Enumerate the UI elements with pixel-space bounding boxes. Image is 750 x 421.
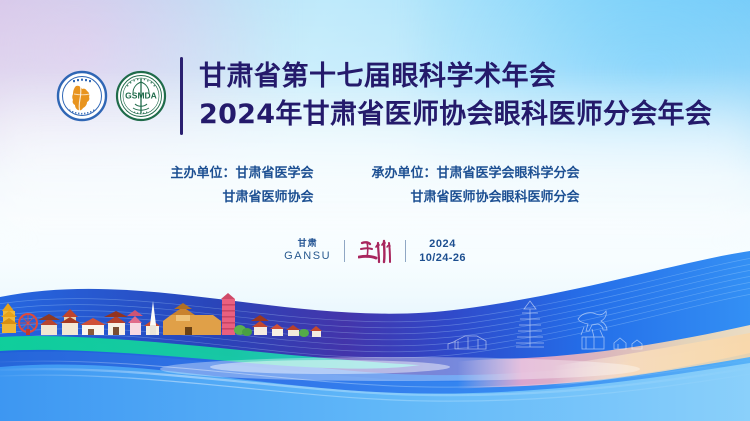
wave-artwork [0,241,750,421]
co-organizer-column: 承办单位：甘肃省医学会眼科学分会 甘肃省医师协会眼科医师分会 [372,162,580,210]
co-organizer-line-1: 承办单位：甘肃省医学会眼科学分会 [372,162,580,186]
gansu-medical-association-logo [56,70,108,122]
co-organizer-line-2: 甘肃省医师协会眼科医师分会 [372,186,580,210]
region-name-cn: 甘肃 [298,239,318,250]
gsmda-logo: GSMDA [115,70,167,122]
title-block: 甘肃省第十七届眼科学术年会 2024年甘肃省医师协会眼科医师分会年会 [199,59,712,132]
conference-title-line-1: 甘肃省第十七届眼科学术年会 [199,59,712,95]
strip-separator-left [344,240,345,262]
title-divider [180,57,183,135]
host-organizer-line-2: 甘肃省医师协会 [170,186,313,210]
region-name-en: GANSU [284,250,331,263]
location-date-strip: 甘肃 GANSU 2024 10/24-2 [0,236,750,266]
event-date: 2024 10/24-26 [419,237,466,266]
host-organizer-column: 主办单位：甘肃省医学会 甘肃省医师协会 [170,162,313,210]
organizer-block: 主办单位：甘肃省医学会 甘肃省医师协会 承办单位：甘肃省医学会眼科学分会 甘肃省… [0,162,750,210]
lanzhou-calligraphy [358,236,392,266]
logo-group: GSMDA [56,70,167,122]
host-organizer-line-1: 主办单位：甘肃省医学会 [170,162,313,186]
banner-header: GSMDA [56,57,712,135]
region-label: 甘肃 GANSU [284,239,331,263]
strip-separator-right [405,240,406,262]
event-date-range: 10/24-26 [419,251,466,265]
gsmda-acronym: GSMDA [125,91,157,101]
conference-banner: GSMDA [0,0,750,421]
event-year: 2024 [429,237,456,251]
conference-title-line-2: 2024年甘肃省医师协会眼科医师分会年会 [199,97,712,133]
